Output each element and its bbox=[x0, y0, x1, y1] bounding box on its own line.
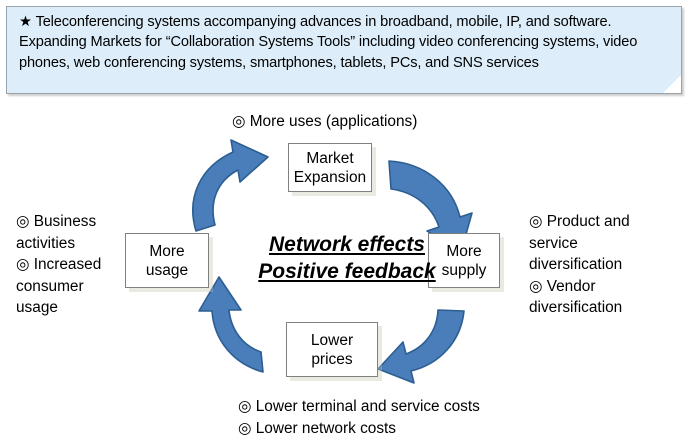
node-market-expansion-line2: Expansion bbox=[294, 168, 366, 187]
arrow-supply-to-prices-icon bbox=[378, 310, 464, 383]
center-title-line2: Positive feedback bbox=[243, 258, 451, 285]
arrow-usage-to-market-icon bbox=[193, 140, 268, 231]
node-market-expansion-line1: Market bbox=[306, 149, 353, 168]
arrow-prices-to-usage-icon bbox=[199, 277, 263, 372]
node-more-supply-line1: More bbox=[446, 242, 481, 261]
node-more-usage-line2: usage bbox=[146, 261, 188, 280]
node-lower-prices[interactable]: Lower prices bbox=[286, 322, 378, 377]
annotation-top: ◎ More uses (applications) bbox=[232, 111, 492, 133]
node-lower-prices-line1: Lower bbox=[311, 331, 353, 350]
node-lower-prices-line2: prices bbox=[311, 350, 352, 369]
annotation-right: ◎ Product and service diversification ◎ … bbox=[529, 211, 691, 319]
network-effects-cycle-diagram: Market Expansion More supply Lower price… bbox=[0, 0, 694, 440]
node-more-usage-line1: More bbox=[149, 242, 184, 261]
node-market-expansion[interactable]: Market Expansion bbox=[288, 143, 372, 192]
annotation-bottom: ◎ Lower terminal and service costs ◎ Low… bbox=[238, 396, 568, 439]
annotation-left: ◎ Business activities ◎ Increased consum… bbox=[16, 211, 128, 319]
center-title: Network effects Positive feedback bbox=[243, 231, 451, 285]
node-more-usage[interactable]: More usage bbox=[125, 233, 209, 288]
center-title-line1: Network effects bbox=[243, 231, 451, 258]
